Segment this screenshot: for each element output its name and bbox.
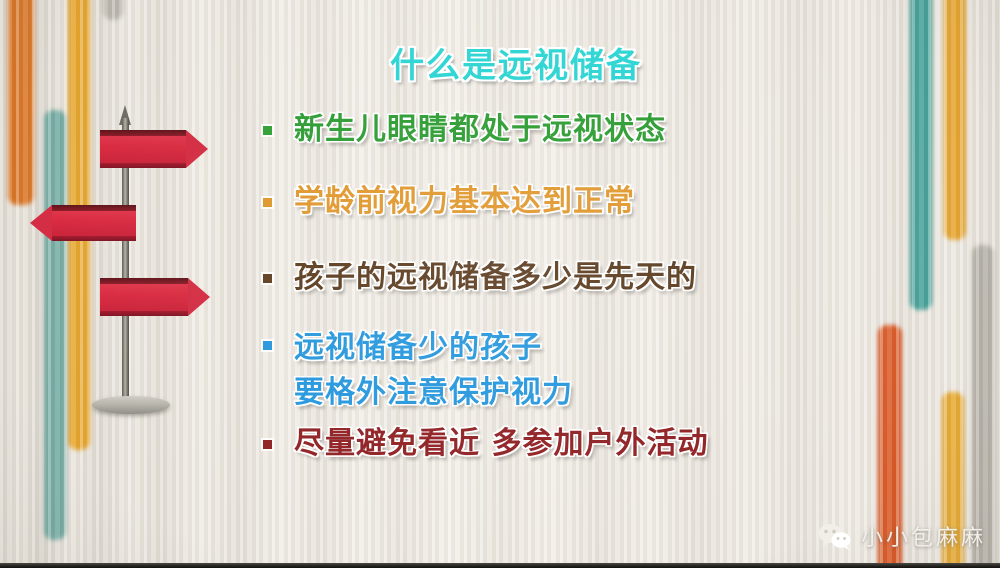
signpost-base	[92, 396, 170, 414]
arrow-bottom-edge	[100, 163, 186, 168]
signpost-arrow-2	[52, 205, 136, 241]
bullet-text: 学龄前视力基本达到正常	[294, 182, 635, 222]
slide-canvas: 什么是远视储备 新生儿眼睛都处于远视状态学龄前视力基本达到正常孩子的远视储备多少…	[0, 0, 1000, 568]
signpost-arrow-3	[100, 278, 188, 316]
bottom-border	[0, 563, 1000, 568]
bullet-dot	[263, 440, 272, 449]
decorative-bar	[910, 0, 932, 310]
bullet-dot	[263, 341, 272, 350]
bullet-text: 孩子的远视储备多少是先天的	[294, 258, 697, 298]
wechat-icon	[818, 523, 852, 550]
arrow-tip-right	[188, 278, 210, 316]
bullet-text-line2: 要格外注意保护视力	[294, 375, 573, 410]
bullet-item: 尽量避免看近 多参加户外活动	[263, 424, 708, 464]
bullet-text: 尽量避免看近 多参加户外活动	[294, 424, 708, 464]
bullet-dot	[263, 274, 272, 283]
bullet-text: 远视储备少的孩子要格外注意保护视力	[294, 325, 573, 415]
bullet-text: 新生儿眼睛都处于远视状态	[294, 110, 666, 150]
arrow-top-edge	[100, 130, 186, 136]
arrow-top-edge	[100, 278, 188, 284]
signpost-arrow-1	[100, 130, 186, 168]
bullet-item: 新生儿眼睛都处于远视状态	[263, 110, 666, 150]
watermark-label: 小小包麻麻	[861, 520, 986, 552]
slide-content: 什么是远视储备 新生儿眼睛都处于远视状态学龄前视力基本达到正常孩子的远视储备多少…	[255, 0, 815, 568]
arrow-tip-right	[186, 130, 208, 168]
bullet-dot	[263, 126, 272, 135]
arrow-top-edge	[52, 205, 136, 211]
arrow-tip-left	[30, 205, 52, 241]
arrow-bottom-edge	[100, 311, 188, 316]
decorative-bar	[944, 0, 966, 240]
signpost-illustration	[0, 0, 250, 568]
bullet-dot	[263, 198, 272, 207]
bullet-item: 远视储备少的孩子要格外注意保护视力	[263, 325, 573, 415]
bullet-item: 学龄前视力基本达到正常	[263, 182, 635, 222]
bullet-item: 孩子的远视储备多少是先天的	[263, 258, 697, 298]
page-title: 什么是远视储备	[390, 38, 642, 87]
watermark: 小小包麻麻	[818, 520, 986, 552]
arrow-bottom-edge	[52, 236, 136, 241]
